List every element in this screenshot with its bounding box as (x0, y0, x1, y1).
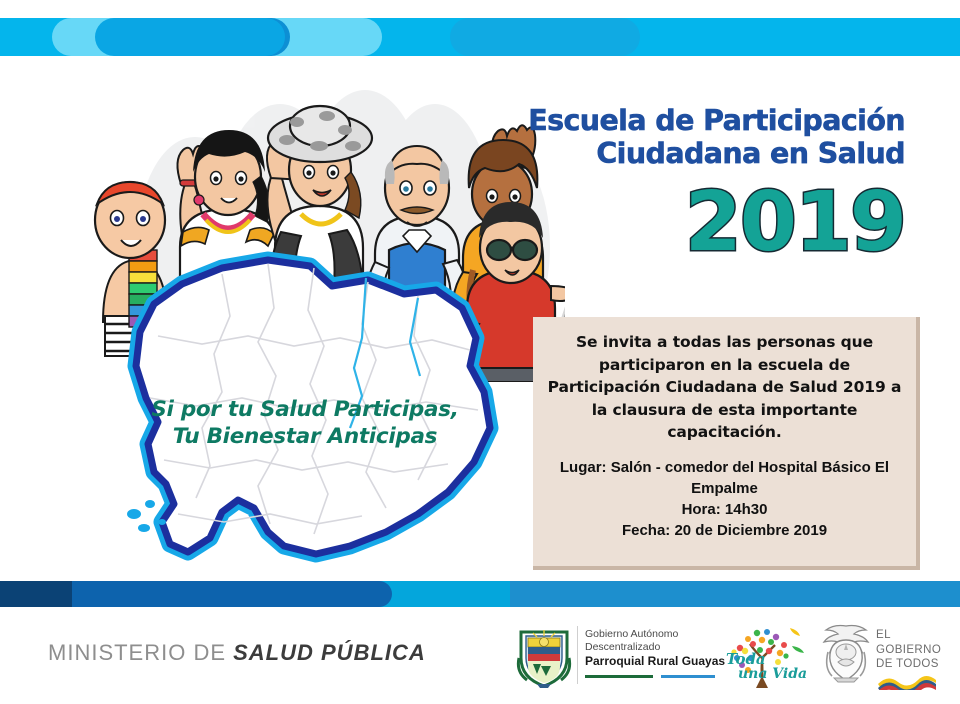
banner-pill-mid (95, 18, 285, 56)
guayas-shield-icon (515, 622, 573, 688)
ministry-logo: MINISTERIO DE SALUD PÚBLICA (48, 640, 426, 666)
gad-line-1: Gobierno Autónomo (585, 628, 725, 641)
gobierno-line-2: GOBIERNO (876, 643, 941, 658)
gobierno-logo: EL GOBIERNO DE TODOS (820, 622, 948, 692)
gobierno-text-block: EL GOBIERNO DE TODOS (876, 628, 941, 672)
event-info-box: Se invita a todas las personas que parti… (533, 317, 920, 570)
poster-slogan: Si por tu Salud Participas, Tu Bienestar… (140, 396, 470, 450)
gad-text-block: Gobierno Autónomo Descentralizado Parroq… (585, 628, 725, 669)
event-place: Lugar: Salón - comedor del Hospital Bási… (547, 457, 902, 499)
invitation-text: Se invita a todas las personas que parti… (547, 331, 902, 444)
gad-rule-green (585, 675, 653, 678)
ecuador-coat-of-arms-icon (820, 622, 872, 684)
gad-underline-rules (585, 675, 715, 678)
event-time: Hora: 14h30 (547, 499, 902, 520)
slogan-line-2: Tu Bienestar Anticipas (140, 423, 470, 450)
tv-word-2: una Vida (738, 667, 807, 682)
gobierno-line-1: EL (876, 628, 941, 643)
poster-canvas: Si por tu Salud Participas, Tu Bienestar… (0, 0, 960, 704)
poster-title: Escuela de Participación Ciudadana en Sa… (505, 104, 905, 170)
gad-divider (577, 626, 578, 684)
poster-year: 2019 (505, 182, 905, 264)
bottom-banner (0, 581, 960, 607)
bottom-band-dark (0, 581, 72, 607)
ecuador-flag-ribbon-icon (876, 674, 938, 690)
gad-line-3: Parroquial Rural Guayas (585, 654, 725, 669)
gad-line-2: Descentralizado (585, 641, 725, 654)
title-line-1: Escuela de Participación (505, 104, 905, 137)
banner-pill-mid-secondary (450, 18, 640, 56)
event-date: Fecha: 20 de Diciembre 2019 (547, 520, 902, 541)
title-line-2: Ciudadana en Salud (505, 137, 905, 170)
gad-rule-gap (653, 675, 661, 678)
gad-logo: Gobierno Autónomo Descentralizado Parroq… (515, 622, 715, 690)
ministry-label-thin: MINISTERIO DE (48, 640, 233, 665)
top-banner (0, 0, 960, 70)
toda-una-vida-logo: Toda una Vida (718, 620, 810, 694)
event-details: Lugar: Salón - comedor del Hospital Bási… (547, 457, 902, 541)
toda-una-vida-wordmark: Toda una Vida (726, 652, 807, 682)
ministry-label-bold: SALUD PÚBLICA (233, 640, 426, 665)
slogan-line-1: Si por tu Salud Participas, (140, 396, 470, 423)
gad-rule-blue (661, 675, 715, 678)
gobierno-line-3: DE TODOS (876, 657, 941, 672)
